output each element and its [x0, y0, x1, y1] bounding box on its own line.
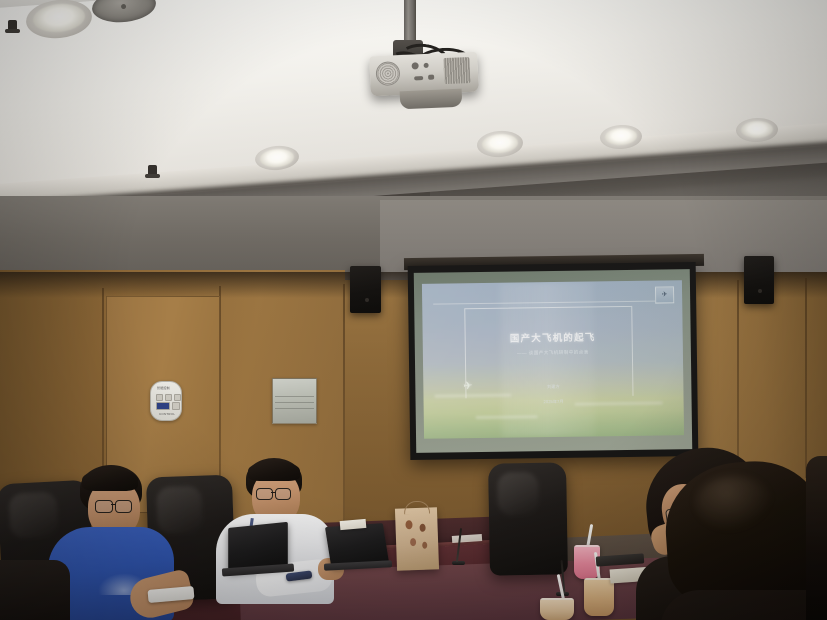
projector-port-1 [411, 62, 418, 69]
person-2-glasses-bridge [271, 492, 276, 493]
wall-ac-panel [272, 378, 317, 424]
person-4-hair-sheen [696, 476, 772, 530]
panel-line-2 [275, 402, 314, 403]
control-panel-row-1 [156, 394, 182, 401]
projector-port-2 [424, 63, 429, 68]
person-1-glasses-right-lens [115, 500, 132, 513]
projection-screen[interactable]: ✈ 国产大飞机的起飞 —— 谈国产大飞机研制中的点滴 刘建方 2025年7月 ✈ [408, 262, 699, 460]
person-2-hair-front [248, 461, 300, 481]
projector-grille [443, 57, 470, 84]
slide-hotspot-overlay [500, 281, 596, 437]
chair-foreground-left-sliver [0, 560, 70, 620]
fire-sprinkler-2 [148, 165, 157, 178]
person-foreground-b [666, 462, 827, 620]
microphone-base [452, 561, 465, 565]
cup-lid-beige-b [540, 598, 574, 600]
control-button-5[interactable] [156, 402, 170, 410]
paper-gift-bag[interactable] [395, 507, 439, 570]
chair-empty-center[interactable] [488, 462, 568, 575]
cup-lid-pink [574, 545, 600, 547]
fire-sprinkler-1 [8, 20, 17, 33]
person-foreground-c-sliver [806, 456, 827, 620]
projector-vent [375, 61, 400, 86]
panel-line-1 [275, 396, 314, 397]
control-button-2[interactable] [165, 394, 172, 401]
person-1-hair-front [82, 469, 138, 491]
wall-seam-5 [805, 278, 807, 478]
wall-speaker-left [350, 266, 381, 313]
conference-room-photo: 智能控制 CONTROL ✈ [0, 0, 827, 620]
control-button-1[interactable] [156, 394, 163, 401]
projector-port-3 [414, 76, 423, 80]
person-4-torso [660, 590, 827, 620]
presentation-slide: ✈ 国产大飞机的起飞 —— 谈国产大飞机研制中的点滴 刘建方 2025年7月 ✈ [422, 280, 684, 438]
control-button-3[interactable] [174, 394, 181, 401]
wall-speaker-right [744, 256, 774, 304]
control-panel-row-2 [156, 402, 180, 410]
control-panel-footer: CONTROL [159, 412, 175, 416]
person-1-glasses-bridge [111, 504, 116, 505]
chair-highlight [498, 472, 539, 515]
person-2-glasses-right-lens [275, 488, 291, 500]
wall-control-panel[interactable]: 智能控制 CONTROL [150, 381, 182, 421]
screen-surface: ✈ 国产大飞机的起飞 —— 谈国产大飞机研制中的点滴 刘建方 2025年7月 ✈ [414, 269, 692, 453]
control-button-6[interactable] [172, 402, 180, 410]
gift-bag-pattern-1 [405, 520, 412, 529]
person-1-glasses-left-lens [95, 500, 113, 513]
projector-lens [400, 89, 463, 110]
gift-bag-pattern-3 [410, 538, 416, 546]
panel-line-3 [275, 408, 314, 409]
person-2-glasses-left-lens [256, 488, 273, 500]
wall-seam-3 [343, 284, 345, 524]
bubble-tea-beige-b[interactable] [540, 598, 574, 620]
gift-bag-pattern-2 [419, 524, 425, 532]
bubble-tea-beige-a[interactable] [584, 578, 614, 616]
projector-port-4 [428, 75, 434, 80]
control-panel-header: 智能控制 [157, 386, 170, 390]
gift-bag-pattern-4 [422, 542, 427, 549]
